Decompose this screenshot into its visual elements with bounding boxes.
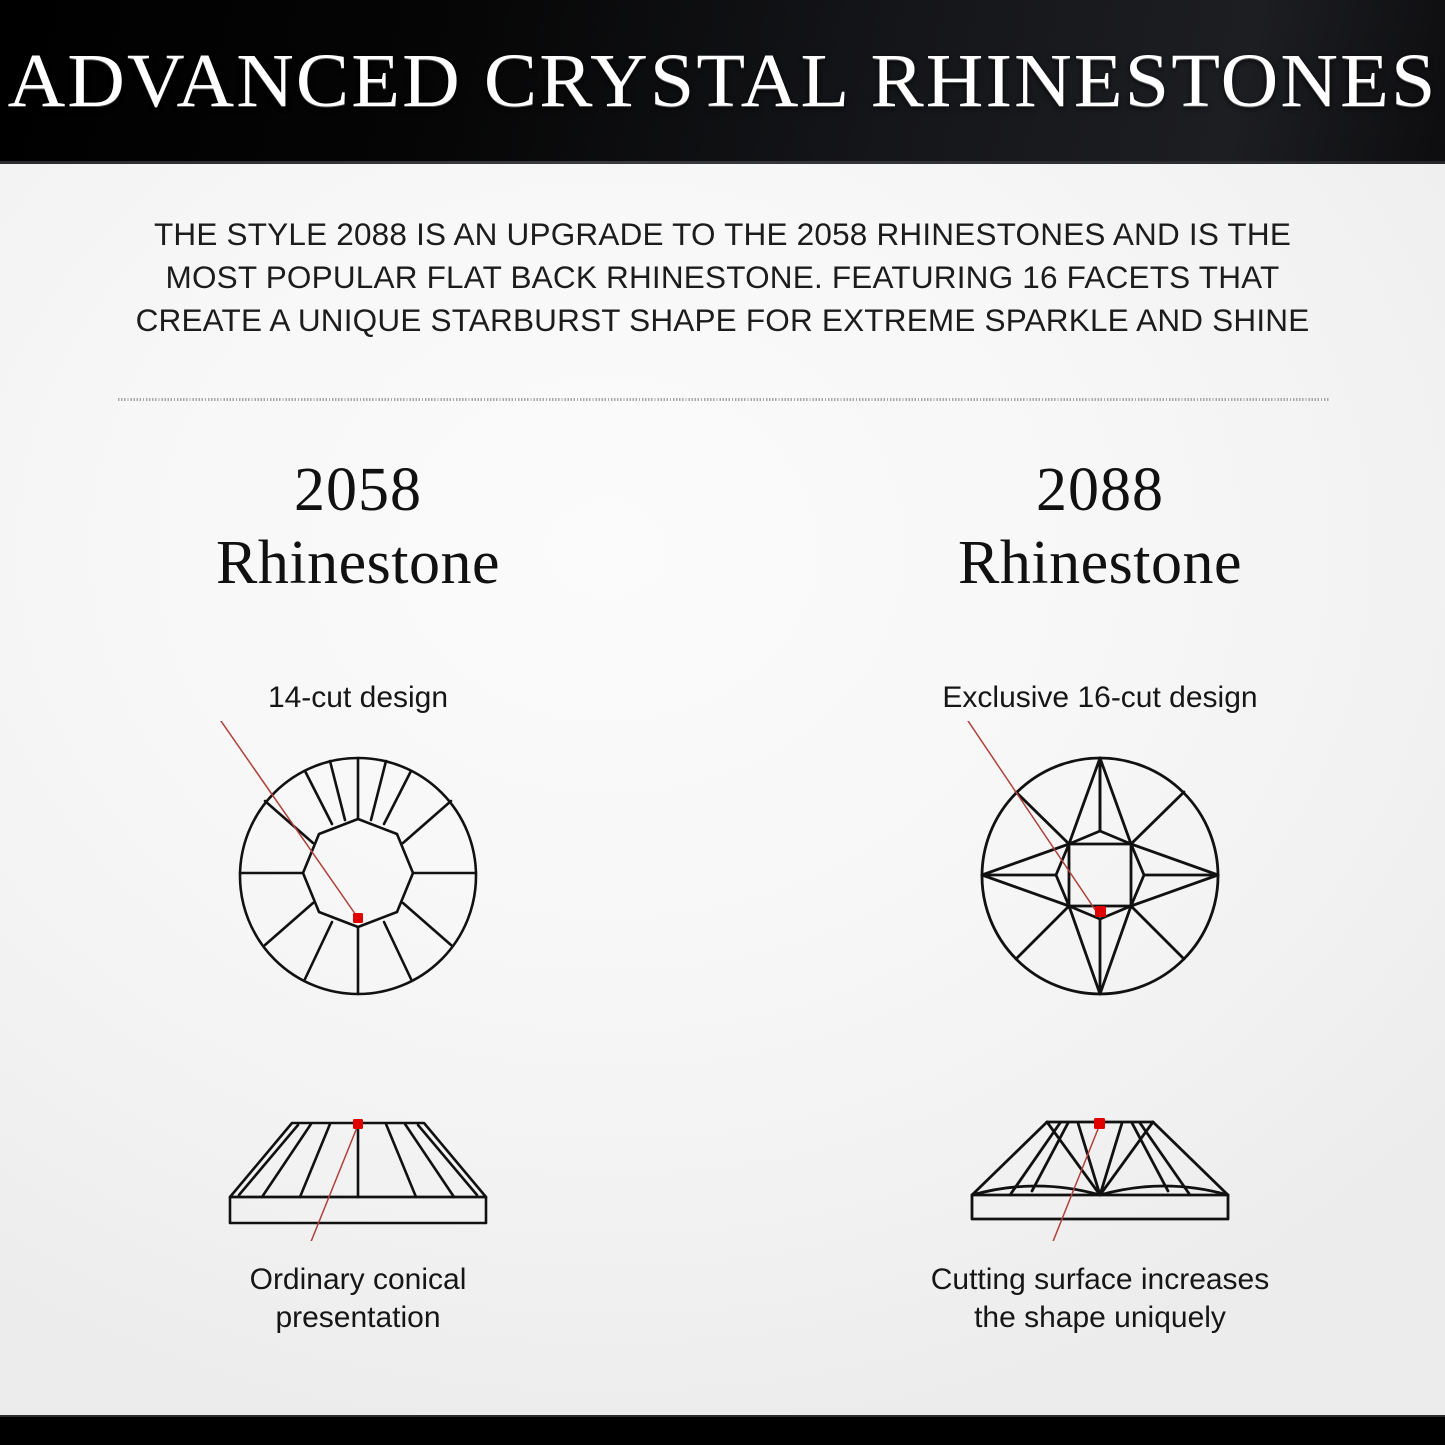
description-line-2: MOST POPULAR FLAT BACK RHINESTONE. FEATU… <box>110 256 1335 299</box>
dotted-divider <box>118 398 1330 401</box>
caption-2088-line-1: Cutting surface increases <box>790 1261 1410 1299</box>
figure-2088-top-view <box>790 721 1410 1021</box>
column-2088-heading: 2088 Rhinestone <box>790 455 1410 601</box>
description-line-3: CREATE A UNIQUE STARBURST SHAPE FOR EXTR… <box>110 299 1335 342</box>
caption-2058-bottom: Ordinary conical presentation <box>48 1261 668 1337</box>
header-banner: ADVANCED CRYSTAL RHINESTONES <box>0 0 1445 164</box>
diagram-2088-side-view <box>950 1091 1250 1241</box>
leader-dot-2058-side <box>353 1119 363 1129</box>
caption-2088-line-2: the shape uniquely <box>790 1299 1410 1337</box>
description-line-1: THE STYLE 2088 IS AN UPGRADE TO THE 2058… <box>110 213 1335 256</box>
diagram-2058-side-view <box>208 1091 508 1241</box>
infographic-page: ADVANCED CRYSTAL RHINESTONES THE STYLE 2… <box>0 0 1445 1445</box>
diagram-2058-top-view <box>208 721 508 1011</box>
column-2088-number: 2088 <box>790 455 1410 525</box>
figure-2058-side-view <box>48 1091 668 1241</box>
footer-bar <box>0 1415 1445 1445</box>
caption-2088-bottom: Cutting surface increases the shape uniq… <box>790 1261 1410 1337</box>
column-2058: 2058 Rhinestone 14-cut design <box>48 455 668 1335</box>
page-title: ADVANCED CRYSTAL RHINESTONES <box>0 38 1445 124</box>
callout-14-cut-design: 14-cut design <box>48 679 668 717</box>
figure-2088-side-view <box>790 1091 1410 1241</box>
leader-dot-2058-top <box>353 913 363 923</box>
description-paragraph: THE STYLE 2088 IS AN UPGRADE TO THE 2058… <box>110 213 1335 342</box>
column-2088-word: Rhinestone <box>790 525 1410 601</box>
caption-2058-line-2: presentation <box>48 1299 668 1337</box>
leader-dot-2088-top <box>1095 906 1106 917</box>
leader-dot-2088-side <box>1094 1118 1105 1129</box>
figure-2058-top-view <box>48 721 668 1021</box>
caption-2058-line-1: Ordinary conical <box>48 1261 668 1299</box>
column-2058-heading: 2058 Rhinestone <box>48 455 668 601</box>
column-2088: 2088 Rhinestone Exclusive 16-cut design <box>790 455 1410 1335</box>
column-2058-number: 2058 <box>48 455 668 525</box>
diagram-2088-top-view <box>950 721 1250 1011</box>
callout-16-cut-design: Exclusive 16-cut design <box>790 679 1410 717</box>
column-2058-word: Rhinestone <box>48 525 668 601</box>
